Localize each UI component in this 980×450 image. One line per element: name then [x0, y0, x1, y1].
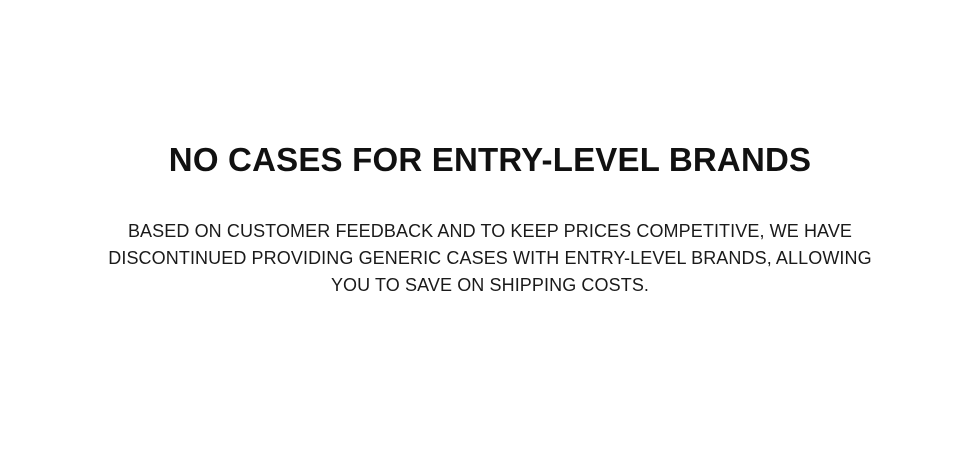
promo-banner: NO CASES FOR ENTRY-LEVEL BRANDS BASED ON…: [0, 0, 980, 450]
banner-content: NO CASES FOR ENTRY-LEVEL BRANDS BASED ON…: [40, 0, 940, 299]
banner-subcopy: BASED ON CUSTOMER FEEDBACK AND TO KEEP P…: [90, 218, 890, 299]
banner-headline: NO CASES FOR ENTRY-LEVEL BRANDS: [40, 140, 940, 180]
